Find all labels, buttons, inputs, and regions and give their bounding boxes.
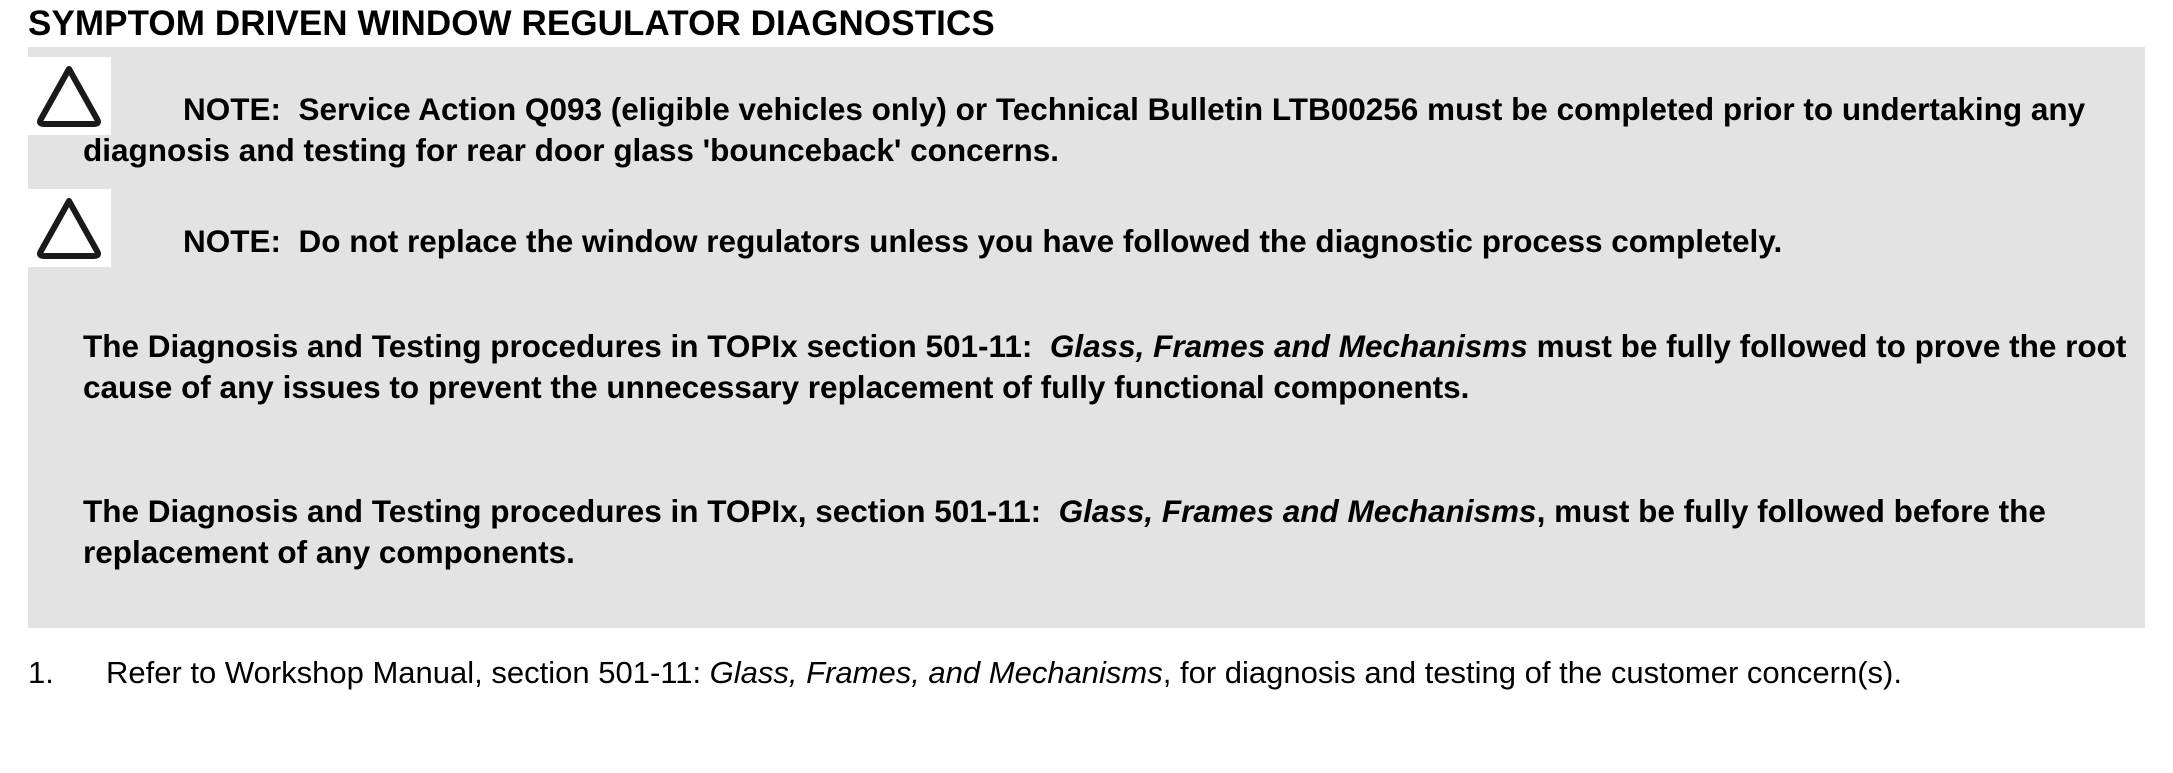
paragraph-1: The Diagnosis and Testing procedures in … xyxy=(83,326,2128,408)
note-2-body: Do not replace the window regulators unl… xyxy=(299,223,1783,259)
page-title: SYMPTOM DRIVEN WINDOW REGULATOR DIAGNOST… xyxy=(28,6,995,43)
paragraph-2-lead: The Diagnosis and Testing procedures in … xyxy=(83,493,1059,529)
notes-panel: NOTE: Service Action Q093 (eligible vehi… xyxy=(28,47,2145,628)
list-item-body: Refer to Workshop Manual, section 501-11… xyxy=(106,652,2146,693)
list-item-tail: , for diagnosis and testing of the custo… xyxy=(1163,655,1902,690)
note-2-label: NOTE: xyxy=(183,223,281,259)
list-item-lead: Refer to Workshop Manual, section 501-11… xyxy=(106,655,710,690)
note-1-label: NOTE: xyxy=(183,91,281,127)
list-item-reference: Glass, Frames, and Mechanisms xyxy=(710,655,1163,690)
list-item-number: 1. xyxy=(28,652,80,693)
note-1-text: NOTE: Service Action Q093 (eligible vehi… xyxy=(83,89,2133,171)
note-1-body: Service Action Q093 (eligible vehicles o… xyxy=(83,91,2085,168)
document-page: SYMPTOM DRIVEN WINDOW REGULATOR DIAGNOST… xyxy=(0,0,2173,773)
paragraph-2-reference: Glass, Frames and Mechanisms xyxy=(1059,493,1537,529)
paragraph-1-reference: Glass, Frames and Mechanisms xyxy=(1050,328,1528,364)
paragraph-1-lead: The Diagnosis and Testing procedures in … xyxy=(83,328,1050,364)
paragraph-2: The Diagnosis and Testing procedures in … xyxy=(83,491,2128,573)
note-2-text: NOTE: Do not replace the window regulato… xyxy=(83,221,2133,262)
